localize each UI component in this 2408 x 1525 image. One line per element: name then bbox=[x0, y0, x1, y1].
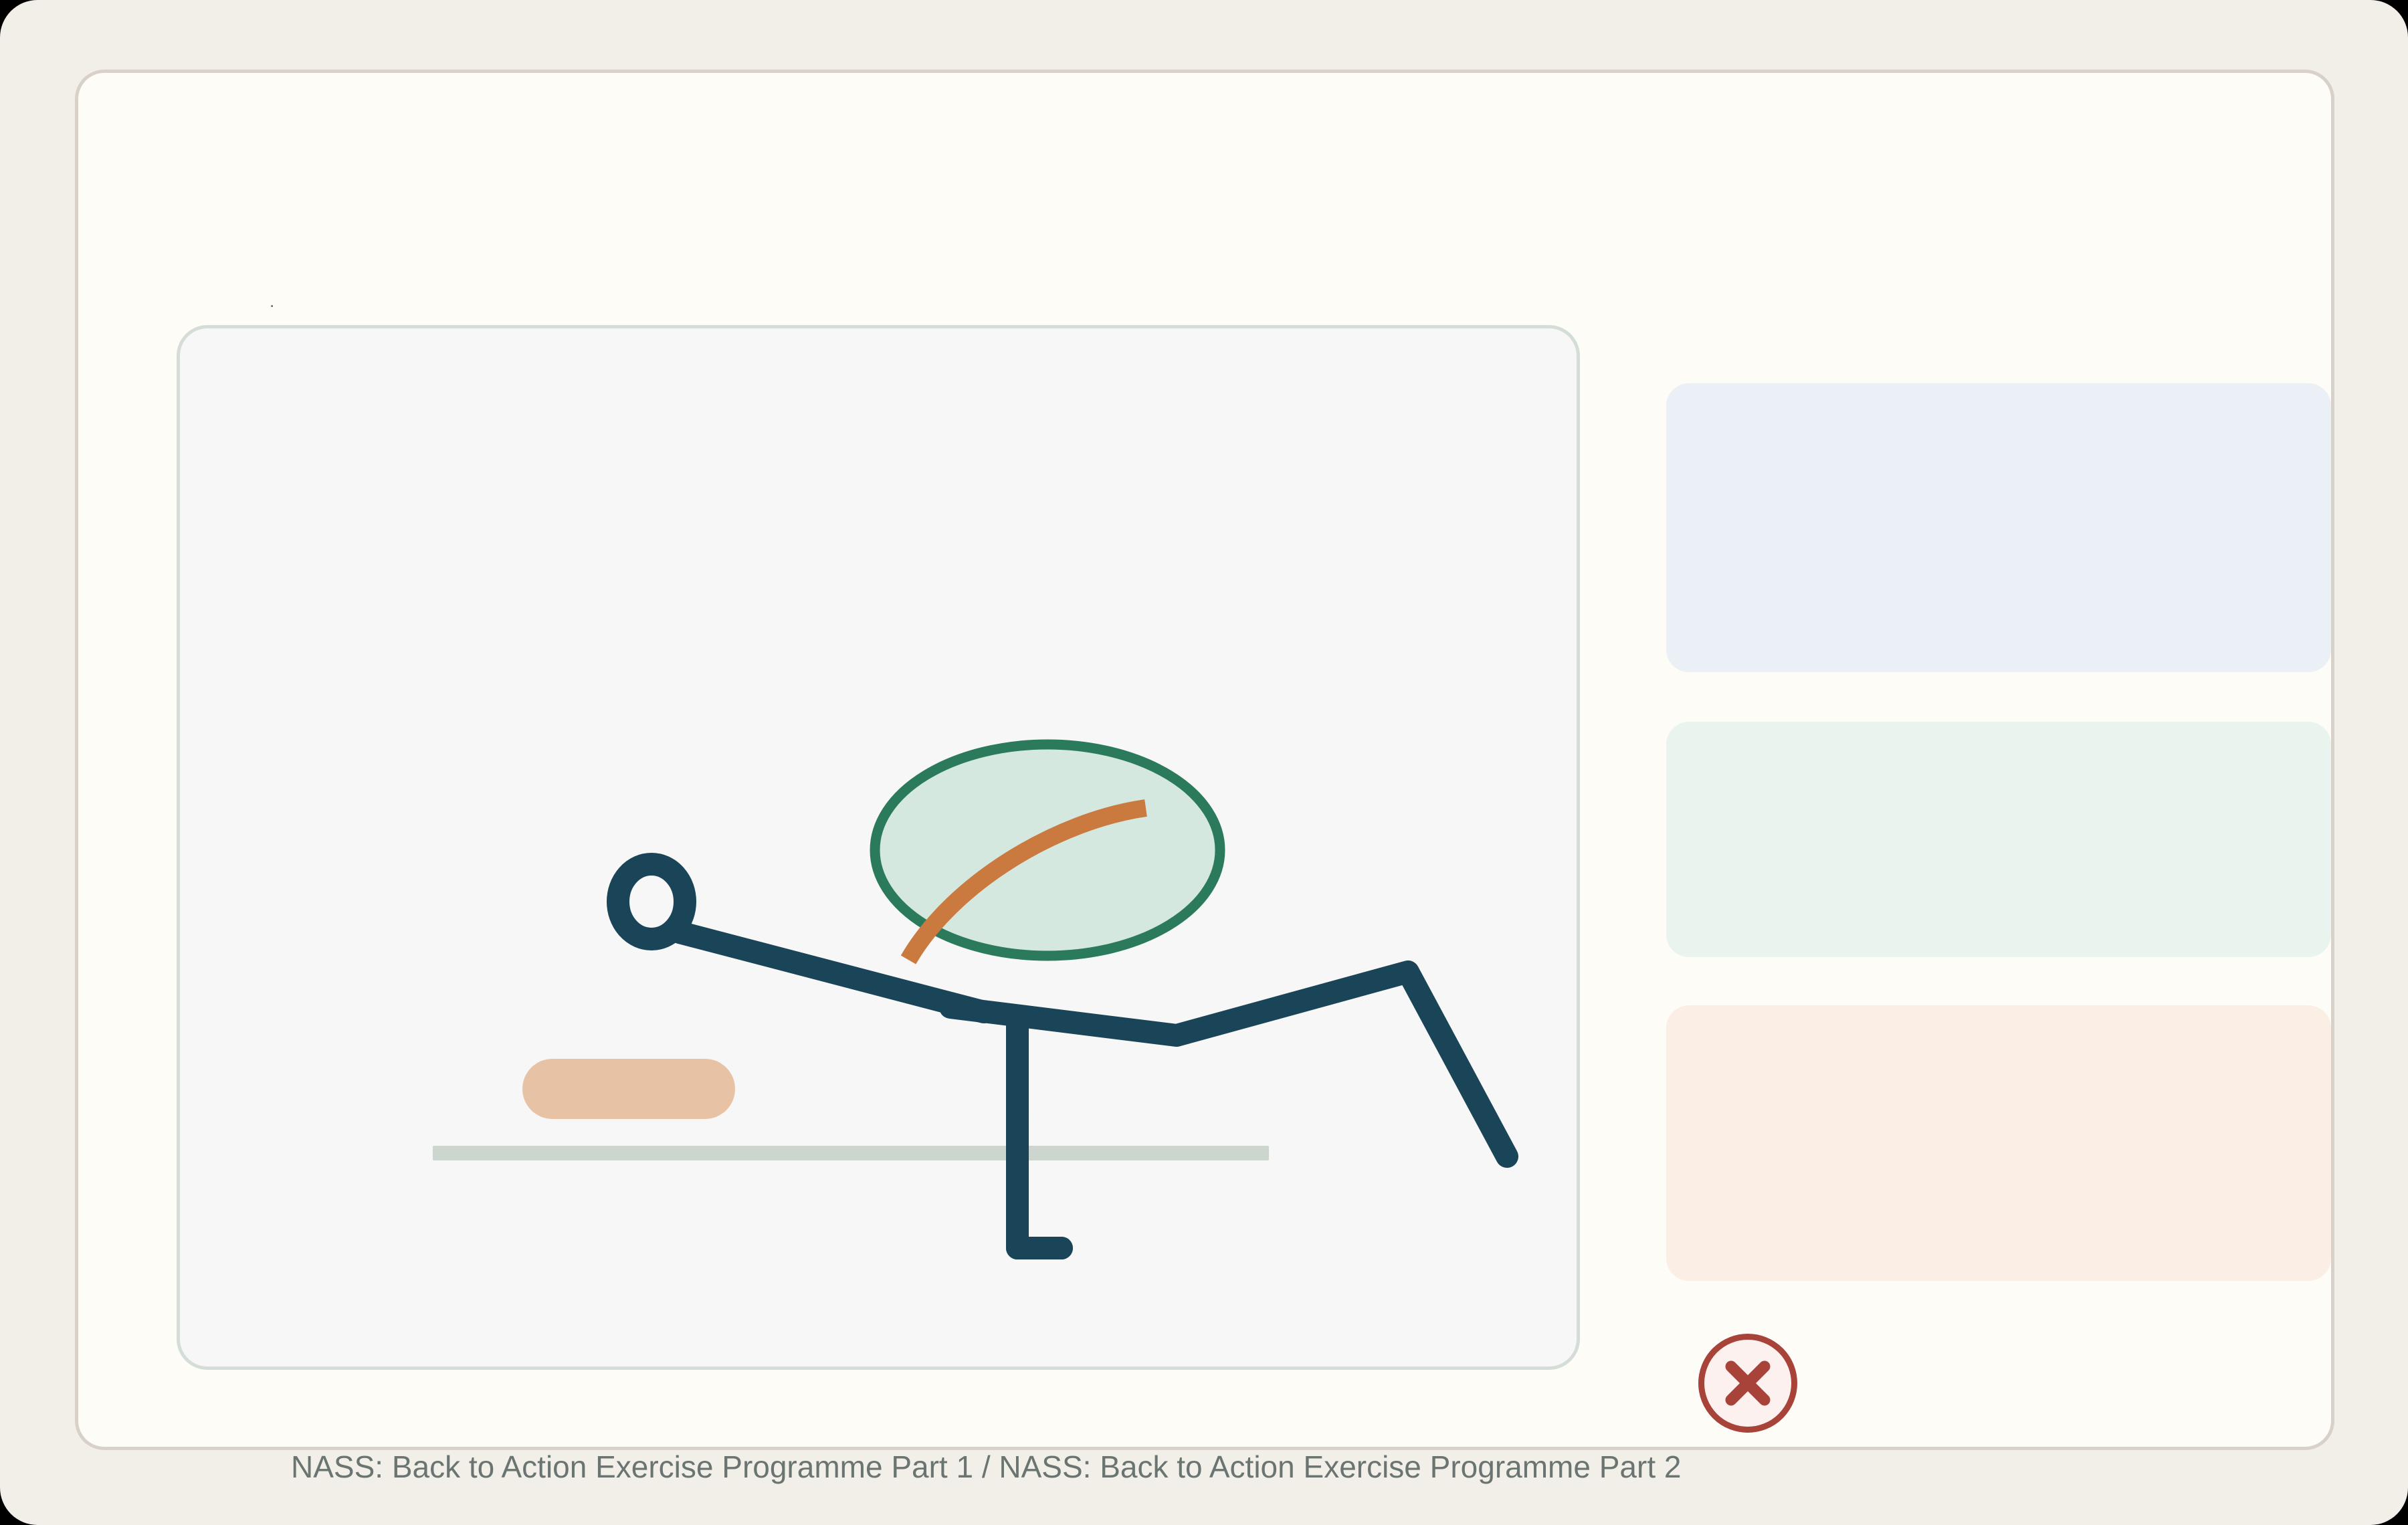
close-x-icon bbox=[1718, 1353, 1778, 1413]
info-panel-1[interactable] bbox=[1666, 383, 2331, 672]
info-panel-stack bbox=[1666, 383, 2331, 1265]
neck-and-torso bbox=[680, 932, 984, 1012]
back-hip-and-leg bbox=[950, 972, 1507, 1156]
info-panel-2[interactable] bbox=[1666, 722, 2331, 957]
close-button[interactable] bbox=[1698, 1334, 1797, 1433]
supporting-arm-lower bbox=[1017, 1119, 1062, 1248]
support-mat bbox=[522, 1059, 735, 1119]
mini-title-text: . bbox=[270, 292, 296, 311]
ground-line bbox=[433, 1146, 1269, 1160]
page-root: . bbox=[0, 0, 2408, 1525]
info-panel-3[interactable] bbox=[1666, 1005, 2331, 1281]
caption-text: NASS: Back to Action Exercise Programme … bbox=[291, 1448, 1681, 1486]
content-card: . bbox=[75, 70, 2334, 1450]
illustration-panel bbox=[177, 325, 1580, 1370]
exercise-figure-illustration bbox=[180, 328, 1580, 1370]
